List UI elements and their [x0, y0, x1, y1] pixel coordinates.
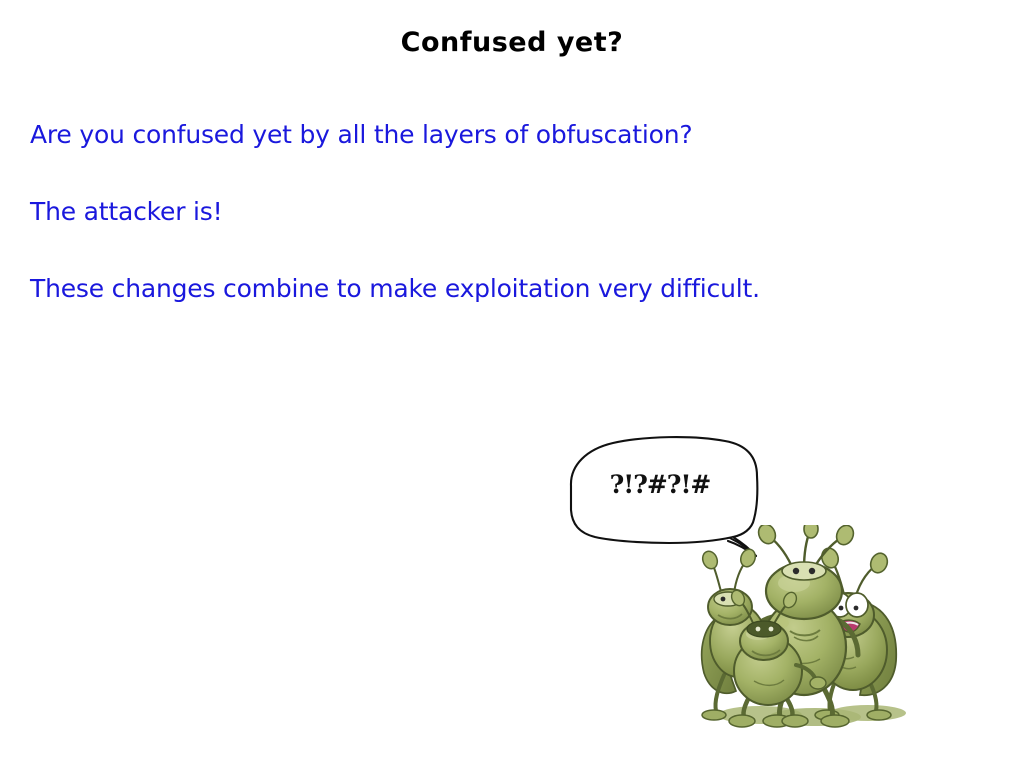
- cartoon-bugs-icon: [690, 525, 915, 735]
- speech-balloon-text: ?!?#?!#: [565, 434, 755, 499]
- bug-cluster-illustration: [690, 525, 915, 735]
- body-line-2: The attacker is!: [30, 199, 960, 229]
- body-line-3: These changes combine to make exploitati…: [30, 276, 960, 306]
- slide-canvas: Confused yet? Are you confused yet by al…: [0, 0, 1024, 768]
- page-title: Confused yet?: [0, 27, 1024, 58]
- slide-body: Are you confused yet by all the layers o…: [30, 122, 960, 353]
- body-line-1: Are you confused yet by all the layers o…: [30, 122, 960, 152]
